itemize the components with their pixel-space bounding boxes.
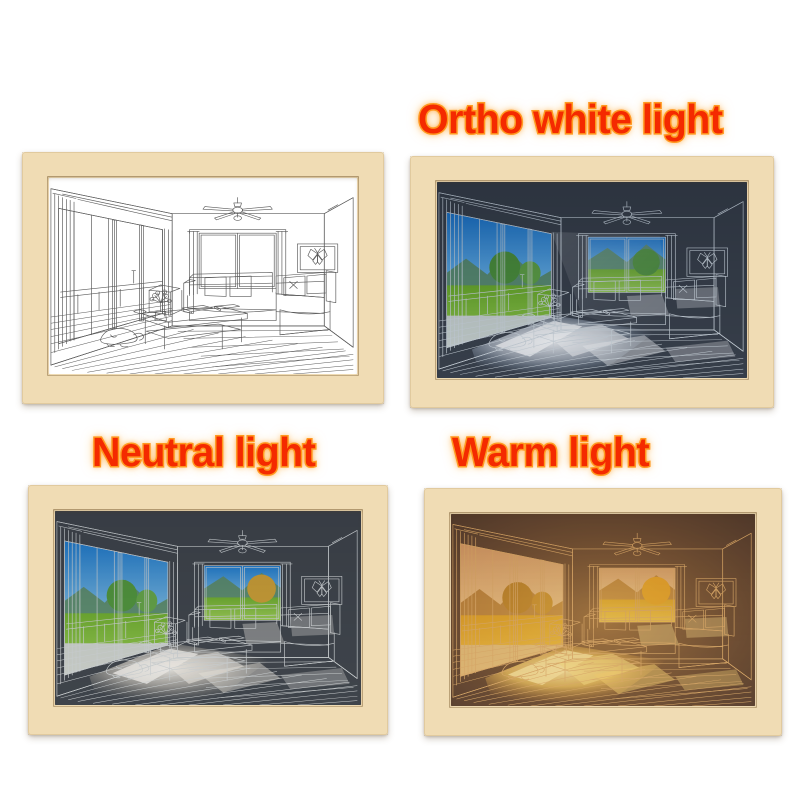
product-grid: Ortho white light (0, 0, 800, 800)
label-ortho-white-light: Ortho white light (418, 96, 723, 143)
panel-neutral-light[interactable] (28, 485, 388, 735)
wooden-frame (424, 488, 782, 736)
panel-warm-light[interactable] (424, 488, 782, 736)
label-neutral-light: Neutral light (92, 429, 315, 476)
living-room-line-art-lit (55, 511, 361, 705)
wooden-frame (28, 485, 388, 735)
label-warm-light: Warm light (452, 429, 649, 476)
wooden-frame (410, 156, 774, 408)
wooden-frame (22, 152, 384, 404)
artwork-surface (49, 178, 357, 374)
living-room-line-art-lit (451, 514, 755, 706)
artwork-surface (437, 182, 747, 378)
artwork-surface (451, 514, 755, 706)
living-room-line-art-lit (437, 182, 747, 378)
living-room-line-art (49, 178, 357, 374)
artwork-surface (55, 511, 361, 705)
panel-off-state[interactable] (22, 152, 384, 404)
panel-ortho-white-light[interactable] (410, 156, 774, 408)
